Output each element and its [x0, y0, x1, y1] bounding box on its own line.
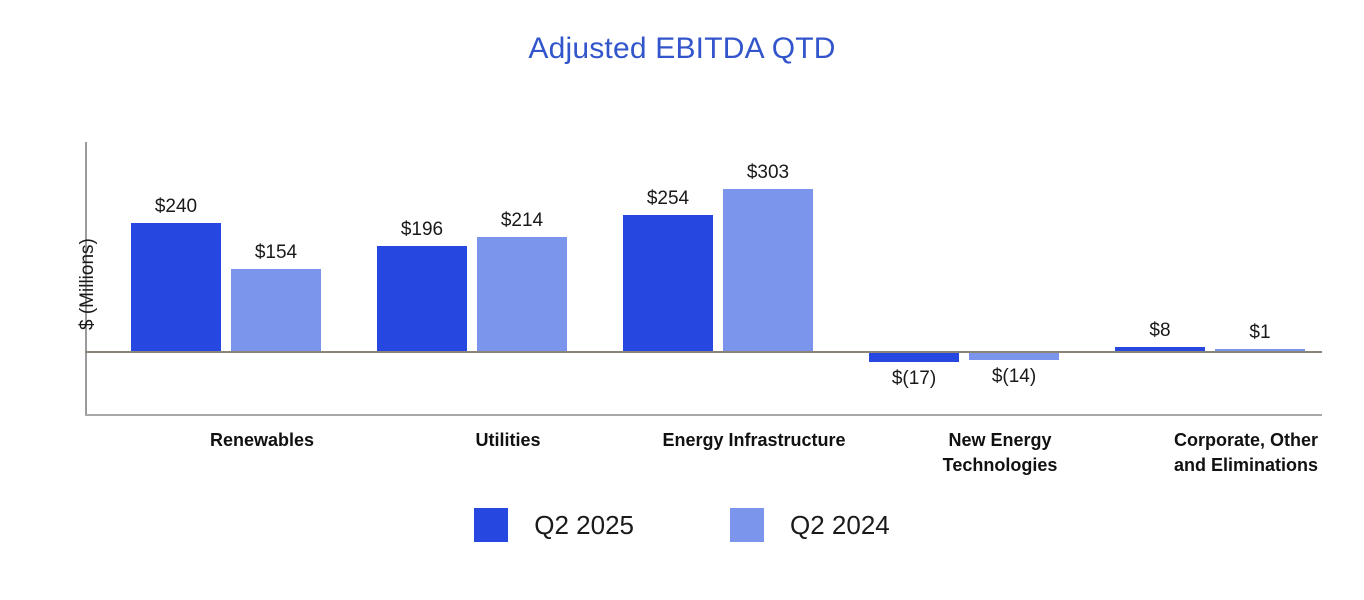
adjusted-ebitda-chart: Adjusted EBITDA QTD $ (Millions) $240$15… — [0, 0, 1364, 600]
category-label-line1: Corporate, Other — [1174, 430, 1318, 450]
y-axis-title: $ (Millions) — [77, 130, 99, 330]
bar-group: $254$303Energy Infrastructure — [595, 142, 841, 416]
legend-item-q2-2024[interactable]: Q2 2024 — [730, 508, 890, 542]
category-label-line1: Utilities — [475, 430, 540, 450]
category-label: Corporate, Otherand Eliminations — [1096, 428, 1364, 478]
bar-q2-2024[interactable] — [231, 269, 321, 351]
bar-q2-2025[interactable] — [131, 223, 221, 351]
plot-area: $ (Millions) $240$154Renewables$196$214U… — [85, 142, 1322, 416]
bar-q2-2025[interactable] — [623, 215, 713, 351]
bar-value-label: $(14) — [949, 366, 1079, 388]
category-label-line1: Renewables — [210, 430, 314, 450]
bar-q2-2024[interactable] — [969, 353, 1059, 360]
bar-value-label: $214 — [457, 210, 587, 232]
bar-group: $(17)$(14)New EnergyTechnologies — [841, 142, 1087, 416]
bar-group: $240$154Renewables — [103, 142, 349, 416]
bar-value-label: $154 — [211, 242, 341, 264]
bar-q2-2025[interactable] — [377, 246, 467, 351]
bar-value-label: $303 — [703, 162, 833, 184]
bar-value-label: $254 — [603, 188, 733, 210]
chart-title: Adjusted EBITDA QTD — [0, 32, 1364, 66]
bar-value-label: $1 — [1195, 322, 1325, 344]
bar-q2-2025[interactable] — [1115, 347, 1205, 351]
legend-swatch-icon — [730, 508, 764, 542]
legend-item-q2-2025[interactable]: Q2 2025 — [474, 508, 634, 542]
chart-legend: Q2 2025Q2 2024 — [0, 508, 1364, 542]
bar-q2-2024[interactable] — [723, 189, 813, 351]
legend-label: Q2 2025 — [534, 510, 634, 541]
bar-group: $8$1Corporate, Otherand Eliminations — [1087, 142, 1333, 416]
category-label-line2: and Eliminations — [1096, 453, 1364, 478]
legend-label: Q2 2024 — [790, 510, 890, 541]
legend-swatch-icon — [474, 508, 508, 542]
category-label-line1: New Energy — [948, 430, 1051, 450]
bar-group: $196$214Utilities — [349, 142, 595, 416]
category-label-line1: Energy Infrastructure — [662, 430, 845, 450]
bar-q2-2024[interactable] — [477, 237, 567, 351]
bar-q2-2024[interactable] — [1215, 349, 1305, 351]
bar-value-label: $240 — [111, 196, 241, 218]
bar-q2-2025[interactable] — [869, 353, 959, 362]
